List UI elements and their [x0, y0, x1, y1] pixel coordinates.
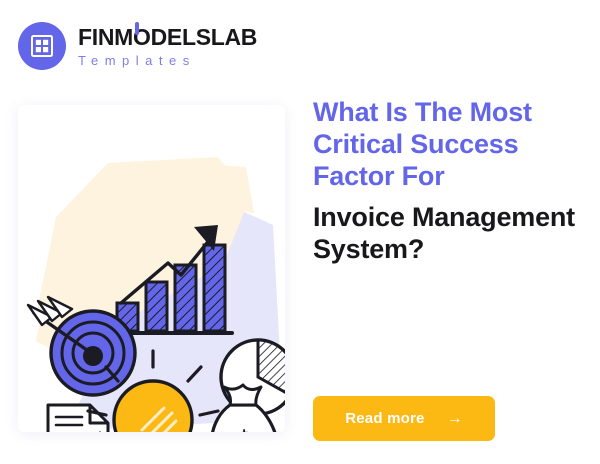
read-more-button[interactable]: Read more →: [313, 396, 495, 441]
arrow-right-icon: →: [447, 411, 463, 427]
brand-name: FINMODELSLAB: [78, 26, 257, 49]
text-column: What Is The Most Critical Success Factor…: [313, 96, 585, 265]
grid-squares-icon: [18, 22, 66, 70]
brand-name-label: FINMODELSLAB: [78, 24, 257, 50]
business-analytics-balance-illustration: $: [18, 105, 285, 432]
read-more-label: Read more: [345, 410, 424, 427]
promo-card: FINMODELSLAB Templates: [0, 0, 600, 464]
brand-logo[interactable]: FINMODELSLAB Templates: [18, 22, 257, 70]
svg-text:$: $: [235, 424, 254, 432]
brand-pin-accent-icon: [135, 22, 139, 35]
brand-text: FINMODELSLAB Templates: [78, 26, 257, 67]
brand-tagline: Templates: [78, 54, 257, 67]
page-subtitle: Invoice Management System?: [313, 201, 585, 265]
page-title: What Is The Most Critical Success Factor…: [313, 96, 585, 192]
illustration-card: $: [18, 105, 285, 432]
